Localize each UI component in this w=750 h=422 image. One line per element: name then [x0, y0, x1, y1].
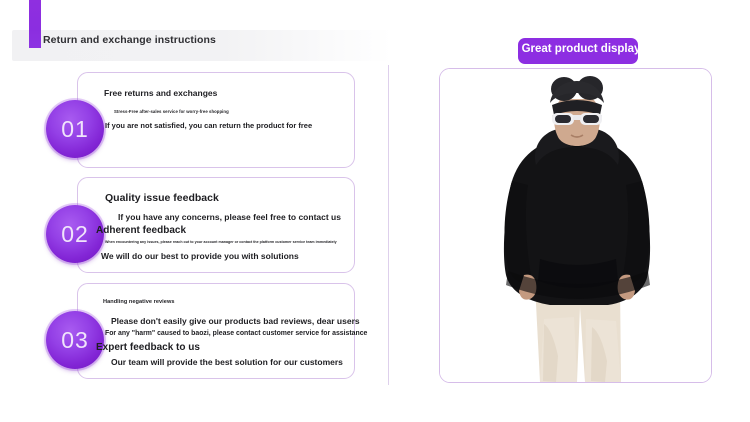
step-badge-3: 03	[46, 311, 104, 369]
card-2-heading: Quality issue feedback	[105, 192, 219, 204]
product-photo	[440, 69, 711, 382]
slide-canvas: Return and exchange instructions 01 Free…	[0, 0, 750, 422]
card-3-heading: Handling negative reviews	[103, 299, 175, 305]
card-2-overflow-heading: Adherent feedback	[96, 225, 186, 236]
instruction-card-1[interactable]	[77, 72, 355, 168]
card-3-body: Our team will provide the best solution …	[111, 357, 343, 367]
card-2-body: We will do our best to provide you with …	[101, 251, 299, 261]
step-badge-1: 01	[46, 100, 104, 158]
page-title: Return and exchange instructions	[43, 34, 216, 46]
product-photo-card[interactable]	[439, 68, 712, 383]
card-1-micro-note: Stress-Free after-sales service for worr…	[114, 109, 229, 114]
model-illustration	[440, 69, 711, 382]
card-2-lead: If you have any concerns, please feel fr…	[118, 212, 341, 222]
card-3-overflow-heading: Expert feedback to us	[96, 342, 200, 353]
product-display-badge-label: Great product display	[516, 43, 646, 55]
column-divider	[388, 65, 389, 385]
accent-bar	[29, 0, 41, 48]
card-1-body: If you are not satisfied, you can return…	[105, 121, 312, 130]
card-1-heading: Free returns and exchanges	[104, 88, 217, 98]
card-3-micro-note: For any "harm" caused to baozi, please c…	[105, 330, 367, 337]
card-3-lead: Please don't easily give our products ba…	[111, 316, 360, 326]
card-2-micro-note: When encountering any issues, please rea…	[105, 240, 337, 244]
